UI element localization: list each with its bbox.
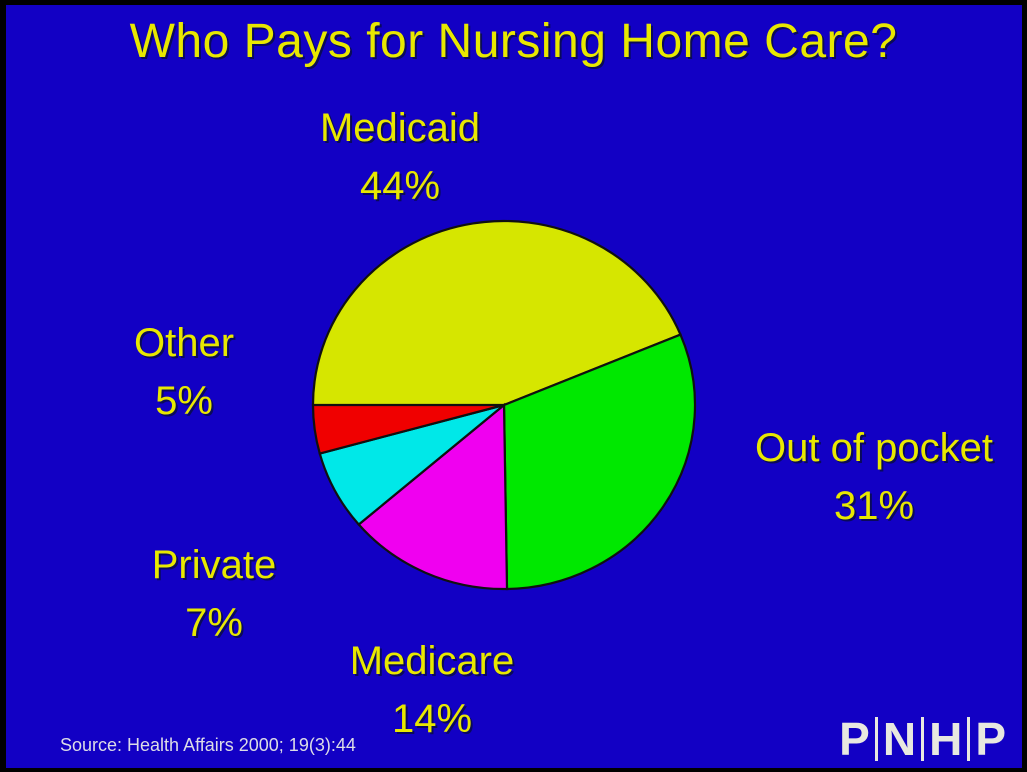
pie-label-private: Private 7% xyxy=(114,537,314,652)
pie-slice-private xyxy=(320,405,504,525)
page-title: Who Pays for Nursing Home Care? xyxy=(0,14,1027,69)
pie-label-out-of-pocket-name: Out of pocket xyxy=(724,420,1024,478)
pie-label-other: Other 5% xyxy=(84,315,284,430)
logo-letter-h: H xyxy=(924,716,967,762)
pie-label-private-name: Private xyxy=(114,537,314,595)
pie-label-medicaid: Medicaid 44% xyxy=(250,100,550,215)
pie-label-out-of-pocket: Out of pocket 31% xyxy=(724,420,1024,535)
logo-letter-p2: P xyxy=(970,716,1011,762)
logo-letter-p1: P xyxy=(834,716,875,762)
pie-slice-out-of-pocket xyxy=(504,335,695,589)
slide-canvas: Who Pays for Nursing Home Care? Medicaid… xyxy=(0,0,1027,772)
pie-label-medicaid-pct: 44% xyxy=(250,158,550,216)
pie-slice-medicaid xyxy=(313,221,680,408)
pie-label-other-pct: 5% xyxy=(84,373,284,431)
pie-label-medicare-name: Medicare xyxy=(312,633,552,691)
pie-label-other-name: Other xyxy=(84,315,284,373)
pie-slice-group xyxy=(313,221,695,589)
letterbox-top xyxy=(0,0,1027,5)
pie-slice-medicare xyxy=(359,405,507,589)
pie-label-medicaid-name: Medicaid xyxy=(250,100,550,158)
letterbox-bottom xyxy=(0,768,1027,772)
pie-slice-other xyxy=(313,405,504,454)
letterbox-right xyxy=(1022,0,1027,772)
pnhp-logo: P N H P xyxy=(834,714,1011,764)
pie-label-medicare: Medicare 14% xyxy=(312,633,552,748)
logo-letter-n: N xyxy=(878,716,921,762)
letterbox-left xyxy=(0,0,6,772)
pie-label-private-pct: 7% xyxy=(114,595,314,653)
source-citation: Source: Health Affairs 2000; 19(3):44 xyxy=(60,735,356,756)
pie-label-out-of-pocket-pct: 31% xyxy=(724,478,1024,536)
